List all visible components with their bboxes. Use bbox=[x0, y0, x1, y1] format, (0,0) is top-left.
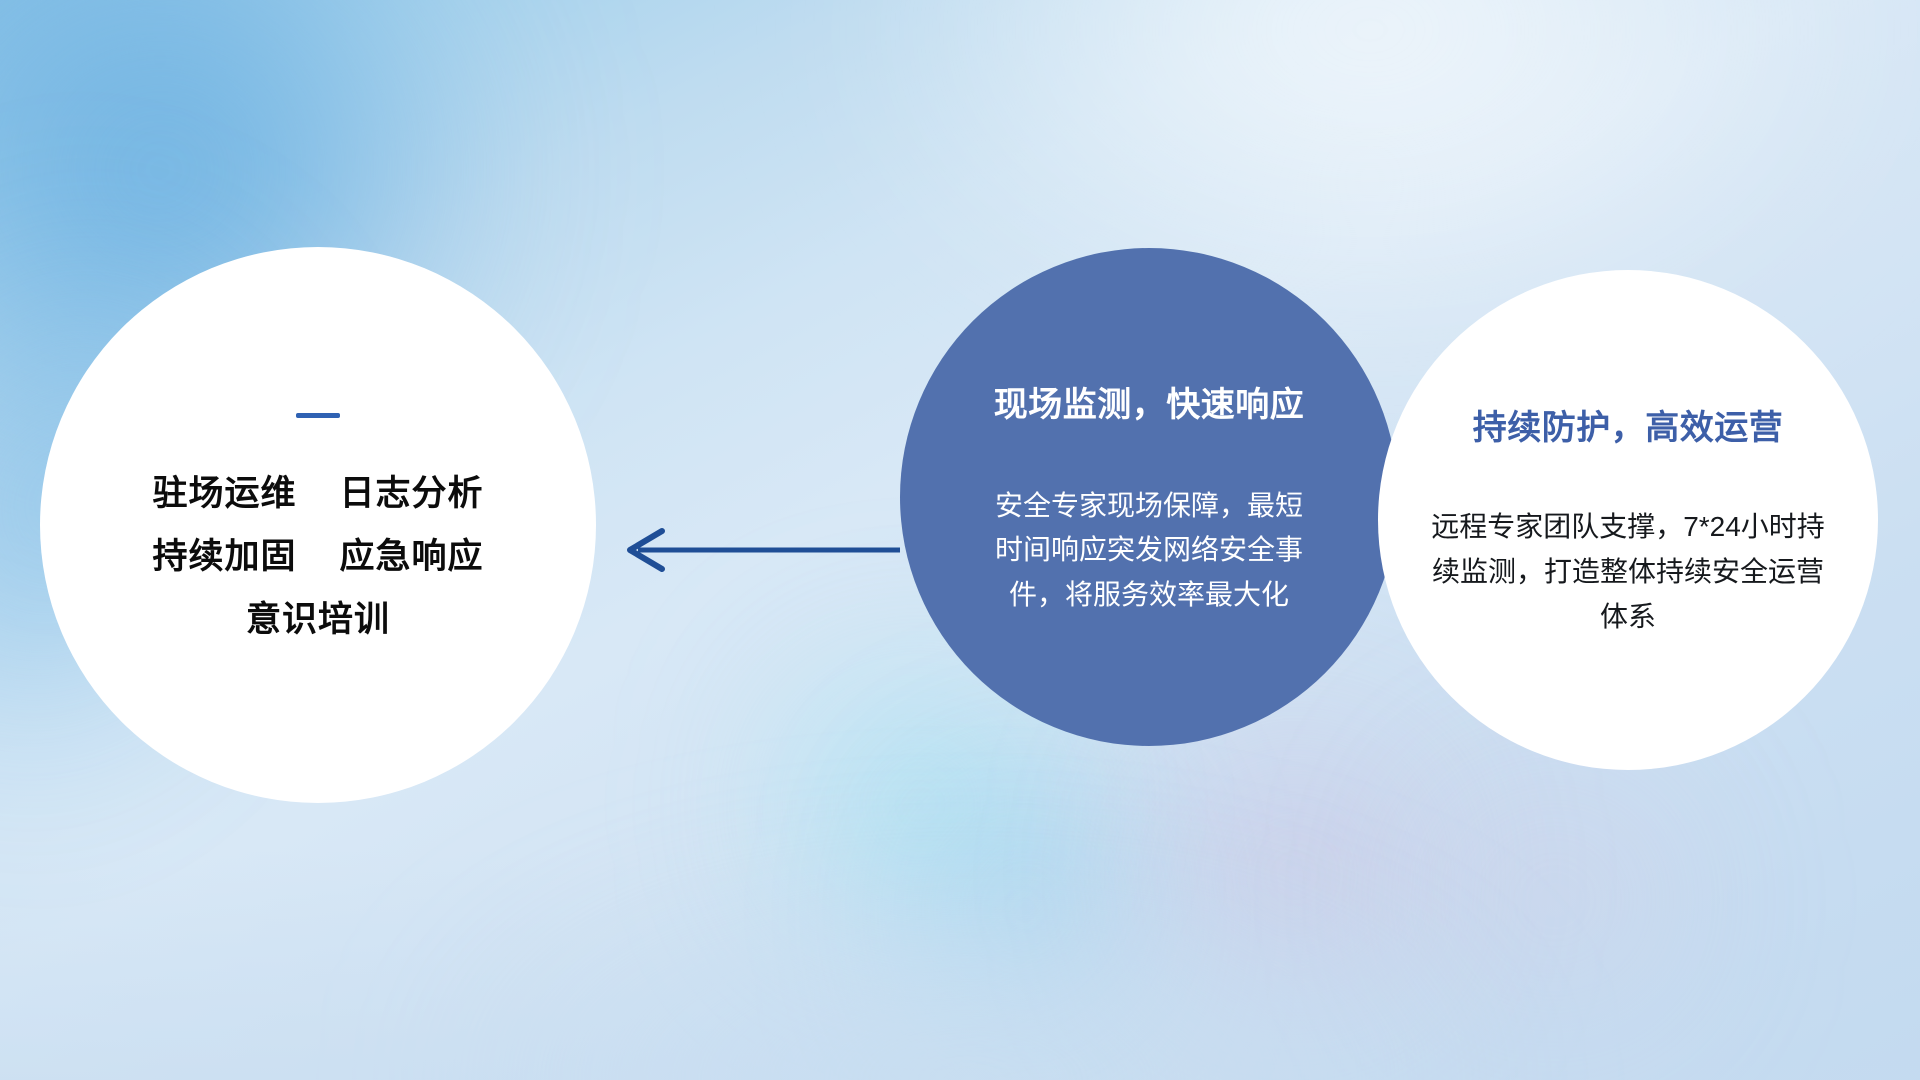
left-capability-circle: 驻场运维 日志分析 持续加固 应急响应 意识培训 bbox=[40, 247, 596, 803]
slide-canvas: 驻场运维 日志分析 持续加固 应急响应 意识培训 现场监测，快速响应 安全专家现… bbox=[0, 0, 1920, 1080]
background-bottom-sheen bbox=[0, 850, 1920, 1080]
middle-circle-title: 现场监测，快速响应 bbox=[994, 377, 1305, 426]
left-circle-line-1: 驻场运维 日志分析 bbox=[153, 476, 484, 511]
middle-circle-body: 安全专家现场保障，最短时间响应突发网络安全事件，将服务效率最大化 bbox=[989, 484, 1309, 617]
left-circle-line-3: 意识培训 bbox=[153, 602, 484, 637]
right-circle-body: 远程专家团队支撑，7*24小时持续监测，打造整体持续安全运营体系 bbox=[1430, 505, 1826, 639]
right-circle-title: 持续防护，高效运营 bbox=[1473, 400, 1784, 449]
middle-service-circle: 现场监测，快速响应 安全专家现场保障，最短时间响应突发网络安全事件，将服务效率最… bbox=[900, 248, 1398, 746]
divider-dash-icon bbox=[296, 413, 340, 418]
left-circle-text-block: 驻场运维 日志分析 持续加固 应急响应 意识培训 bbox=[153, 476, 484, 637]
left-pointing-arrow-icon bbox=[600, 510, 900, 590]
right-service-circle: 持续防护，高效运营 远程专家团队支撑，7*24小时持续监测，打造整体持续安全运营… bbox=[1378, 270, 1878, 770]
left-circle-line-2: 持续加固 应急响应 bbox=[153, 539, 484, 574]
